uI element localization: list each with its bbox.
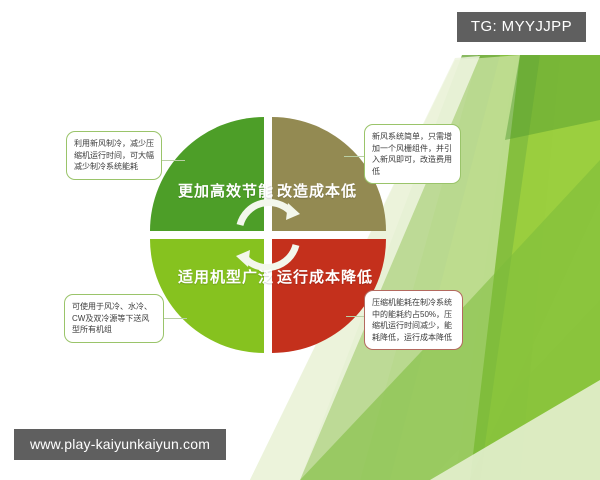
- callout-top-right: 新风系统简单，只需增加一个风栅组件，并引入新风即可，改造费用低: [364, 124, 461, 184]
- callout-top-left: 利用新风制冷，减少压缩机运行时间，可大幅减少制冷系统能耗: [66, 131, 162, 180]
- leader-line-top-left: [161, 160, 185, 161]
- leader-line-bottom-left: [163, 318, 187, 319]
- quadrant-label-top-right: 改造成本低: [277, 180, 357, 201]
- leader-line-top-right: [344, 156, 366, 157]
- callout-bottom-right: 压缩机能耗在制冷系统中的能耗约占50%，压缩机运行时间减少，能耗降低，运行成本降…: [364, 290, 463, 350]
- quadrant-label-bottom-right: 运行成本降低: [277, 266, 373, 287]
- leader-line-bottom-right: [346, 316, 366, 317]
- quadrant-wheel-chart: [148, 115, 388, 355]
- callout-bottom-left: 可使用于风冷、水冷、CW及双冷源等下送风型所有机组: [64, 294, 164, 343]
- watermark-url: www.play-kaiyunkaiyun.com: [14, 429, 226, 460]
- quadrant-label-top-left: 更加高效节能: [178, 180, 274, 201]
- quadrant-label-bottom-left: 适用机型广泛: [178, 266, 274, 287]
- slide-canvas: 更加高效节能 改造成本低 适用机型广泛 运行成本降低 利用新风制冷，减少压缩机运…: [0, 0, 600, 480]
- tag-badge: TG: MYYJJPP: [457, 12, 586, 42]
